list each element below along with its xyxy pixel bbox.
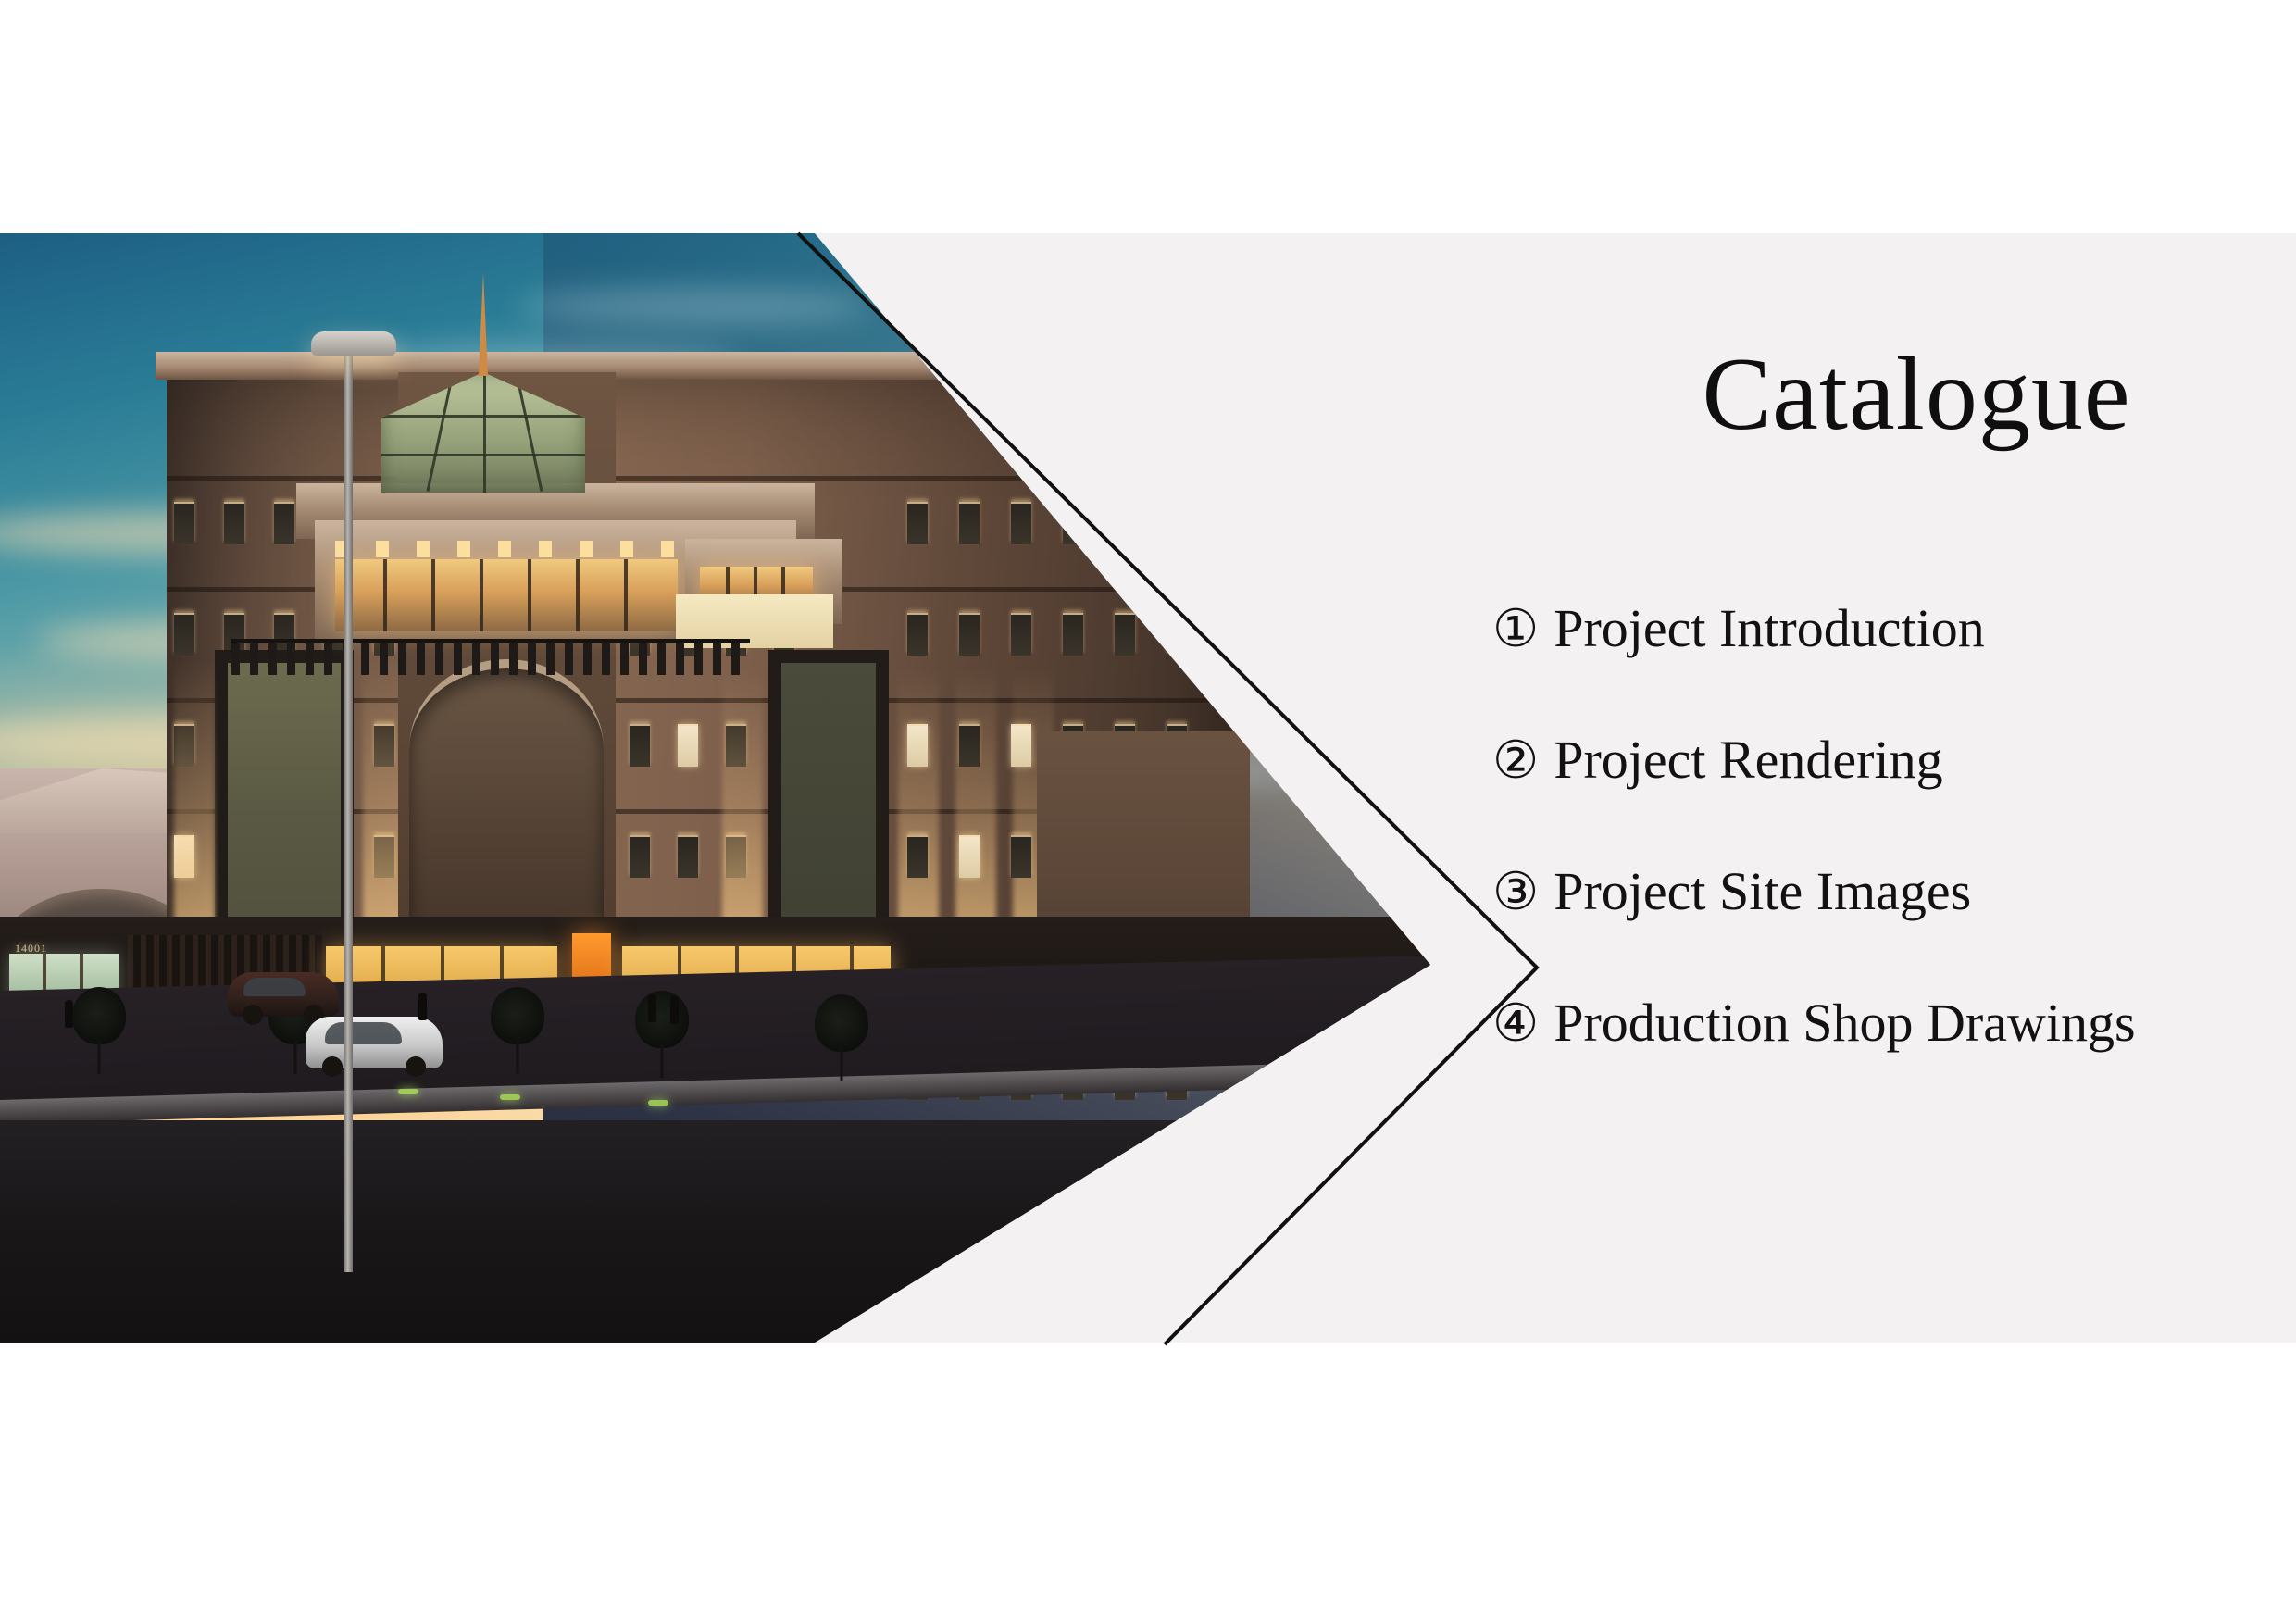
- facade-window: [1011, 724, 1031, 767]
- toc-item-2[interactable]: ② Project Rendering: [1492, 729, 2289, 860]
- parked-car-white: [306, 1017, 443, 1068]
- car-wheel: [322, 1056, 343, 1077]
- street-tree: [72, 987, 126, 1044]
- facade-window: [959, 835, 980, 878]
- street-lamp-pole: [344, 337, 353, 1272]
- facade-window: [959, 724, 980, 767]
- street-tree: [635, 991, 689, 1048]
- roof-terrace-pergola: [231, 639, 750, 675]
- slide-canvas: GRAND HOTEL 14001: [0, 0, 2296, 1624]
- facade-window: [1011, 835, 1031, 878]
- table-of-contents: ① Project Introduction ② Project Renderi…: [1492, 597, 2289, 1123]
- facade-window: [224, 502, 244, 544]
- parked-car-dark: [228, 972, 339, 1017]
- toc-item-3[interactable]: ③ Project Site Images: [1492, 860, 2289, 992]
- facade-window: [678, 835, 698, 878]
- facade-window: [1115, 613, 1135, 656]
- street-lamp-head: [311, 331, 396, 356]
- pedestrian-silhouette: [418, 993, 427, 1020]
- facade-window: [630, 835, 650, 878]
- facade-window: [1011, 502, 1031, 544]
- facade-window: [907, 613, 928, 656]
- facade-window: [907, 835, 928, 878]
- car-wheel: [243, 1005, 263, 1025]
- cloud-wisp: [518, 289, 870, 324]
- penthouse-downlight-strip: [335, 541, 680, 557]
- facade-window: [1011, 613, 1031, 656]
- toc-number-3: ③: [1492, 867, 1539, 918]
- toc-number-2: ②: [1492, 735, 1539, 787]
- pedestrian-silhouette: [65, 1000, 73, 1028]
- toc-item-1[interactable]: ① Project Introduction: [1492, 597, 2289, 729]
- address-number-signage: 14001: [15, 942, 47, 956]
- facade-window: [274, 502, 294, 544]
- ground-uplight: [500, 1094, 520, 1100]
- toc-label-2: Project Rendering: [1554, 729, 1942, 791]
- toc-label-1: Project Introduction: [1554, 597, 1985, 659]
- pedestrian-silhouette: [648, 994, 656, 1022]
- street-tree: [491, 987, 544, 1044]
- pedestrian-silhouette: [670, 996, 679, 1024]
- toc-number-1: ①: [1492, 604, 1539, 656]
- car-wheel: [406, 1056, 426, 1077]
- toc-item-4[interactable]: ④ Production Shop Drawings: [1492, 992, 2289, 1123]
- facade-window: [678, 724, 698, 767]
- ground-uplight: [648, 1100, 668, 1106]
- toc-label-3: Project Site Images: [1554, 860, 1971, 922]
- facade-window: [174, 502, 194, 544]
- facade-window: [959, 613, 980, 656]
- facade-window: [907, 502, 928, 544]
- facade-window: [1063, 613, 1083, 656]
- toc-number-4: ④: [1492, 998, 1539, 1050]
- roof-spire: [479, 272, 488, 376]
- facade-window: [907, 724, 928, 767]
- penthouse-restaurant-glazing: [335, 559, 678, 631]
- ground-uplight: [398, 1089, 418, 1094]
- toc-label-4: Production Shop Drawings: [1554, 992, 2135, 1054]
- facade-window: [174, 613, 194, 656]
- facade-window: [959, 502, 980, 544]
- street-tree: [815, 994, 868, 1052]
- page-title: Catalogue: [1574, 343, 2259, 446]
- facade-window: [630, 724, 650, 767]
